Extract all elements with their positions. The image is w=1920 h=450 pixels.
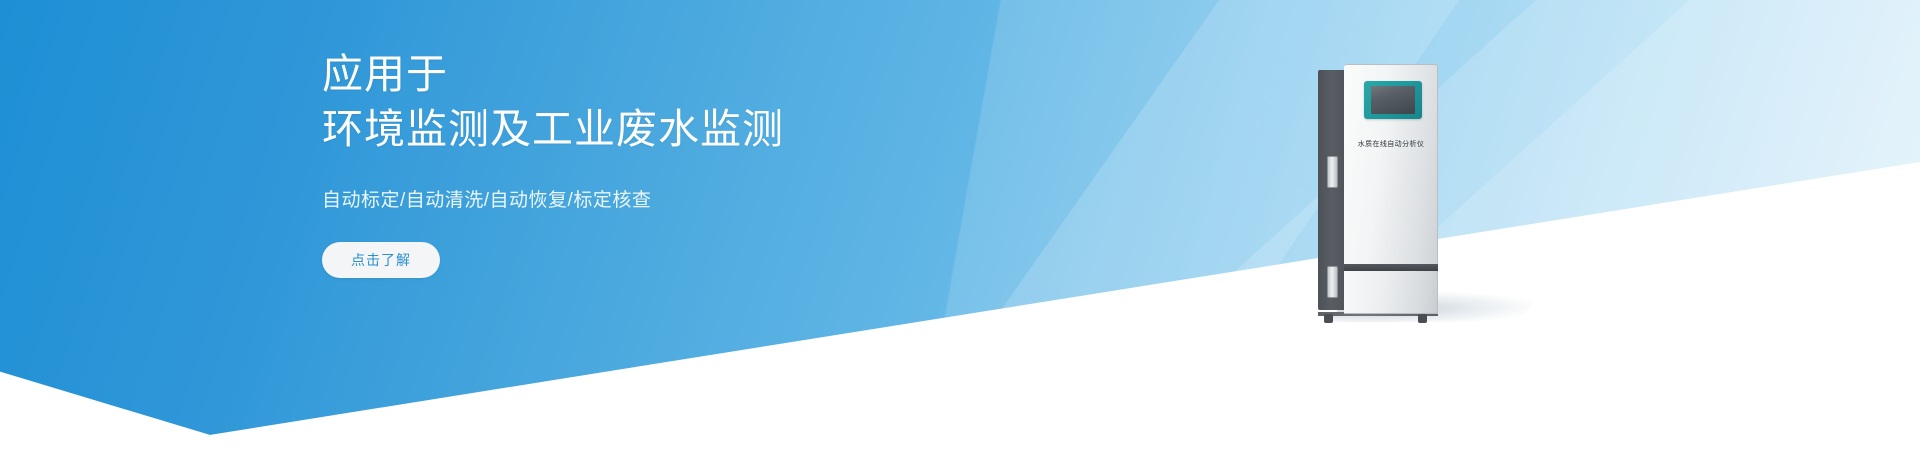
hero-banner: 应用于 环境监测及工业废水监测 自动标定/自动清洗/自动恢复/标定核查 点击了解… <box>0 0 1920 450</box>
headline-line-1: 应用于 <box>322 48 962 101</box>
headline-line-2: 环境监测及工业废水监测 <box>322 103 962 156</box>
machine-side-panel <box>1318 70 1345 310</box>
machine-caster-left <box>1324 314 1333 323</box>
learn-more-button[interactable]: 点击了解 <box>322 242 440 278</box>
machine-door-divider <box>1344 264 1438 271</box>
water-quality-analyzer-image: 水质在线自动分析仪 <box>1318 64 1440 316</box>
machine-lower-door <box>1344 270 1438 314</box>
machine-product-label: 水质在线自动分析仪 <box>1344 140 1438 149</box>
machine-handle-bottom <box>1327 266 1338 298</box>
machine-caster-right <box>1418 314 1427 323</box>
machine-screen <box>1371 86 1415 114</box>
machine-handle-top <box>1327 156 1338 188</box>
banner-content: 应用于 环境监测及工业废水监测 自动标定/自动清洗/自动恢复/标定核查 点击了解 <box>322 48 962 278</box>
machine-screen-bezel <box>1364 81 1422 119</box>
banner-subtitle: 自动标定/自动清洗/自动恢复/标定核查 <box>322 188 962 214</box>
